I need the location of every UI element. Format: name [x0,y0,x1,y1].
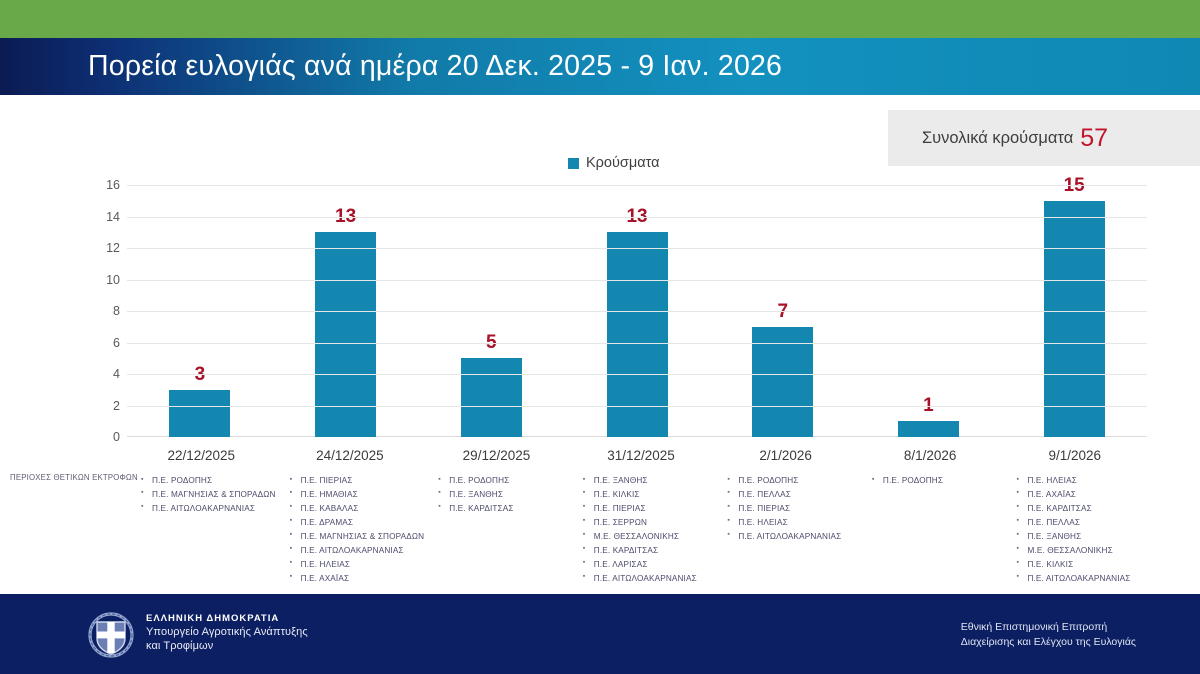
category-column: 24/12/2025Π.Ε. ΠΙΕΡΙΑΣΠ.Ε. ΗΜΑΘΙΑΣΠ.Ε. Κ… [276,448,425,588]
y-axis-tick: 2 [113,399,120,413]
category-column: 2/1/2026Π.Ε. ΡΟΔΟΠΗΣΠ.Ε. ΠΕΛΛΑΣΠ.Ε. ΠΙΕΡ… [713,448,858,588]
region-list-item: Π.Ε. ΚΑΡΔΙΤΣΑΣ [594,544,714,558]
bar[interactable]: 3 [169,390,230,437]
y-axis-tick: 0 [113,430,120,444]
region-list-item: Π.Ε. ΞΑΝΘΗΣ [1027,530,1147,544]
region-list-item: Π.Ε. ΑΙΤΩΛΟΑΚΑΡΝΑΝΙΑΣ [594,572,714,586]
category-columns: 22/12/2025Π.Ε. ΡΟΔΟΠΗΣΠ.Ε. ΜΑΓΝΗΣΙΑΣ & Σ… [127,448,1147,588]
greek-coat-of-arms-icon [86,610,136,660]
region-list: Π.Ε. ΡΟΔΟΠΗΣΠ.Ε. ΜΑΓΝΗΣΙΑΣ & ΣΠΟΡΑΔΩΝΠ.Ε… [127,474,276,516]
region-list-item: Π.Ε. ΡΟΔΟΠΗΣ [152,474,276,488]
region-list-item: Π.Ε. ΠΕΛΛΑΣ [1027,516,1147,530]
region-list-item: Π.Ε. ΗΛΕΙΑΣ [738,516,858,530]
gridline [127,248,1147,249]
region-list-item: Π.Ε. ΞΑΝΘΗΣ [594,474,714,488]
bar[interactable]: 1 [898,421,959,437]
x-axis-date-label: 9/1/2026 [1002,448,1147,463]
region-list-item: Π.Ε. ΑΧΑΪΑΣ [1027,488,1147,502]
y-axis-tick: 12 [106,241,120,255]
region-list: Π.Ε. ΗΛΕΙΑΣΠ.Ε. ΑΧΑΪΑΣΠ.Ε. ΚΑΡΔΙΤΣΑΣΠ.Ε.… [1002,474,1147,586]
x-axis-date-label: 2/1/2026 [713,448,858,463]
ministry-line-1: ΕΛΛΗΝΙΚΗ ΔΗΜΟΚΡΑΤΙΑ [146,613,308,624]
gridline [127,185,1147,186]
category-column: 8/1/2026Π.Ε. ΡΟΔΟΠΗΣ [858,448,1003,588]
region-list-item: Π.Ε. ΔΡΑΜΑΣ [301,516,425,530]
region-list-item: Π.Ε. ΚΙΛΚΙΣ [594,488,714,502]
total-cases-value: 57 [1080,126,1108,151]
gridline [127,280,1147,281]
ministry-text: ΕΛΛΗΝΙΚΗ ΔΗΜΟΚΡΑΤΙΑ Υπουργείο Αγροτικής … [146,613,308,652]
region-list-item: Μ.Ε. ΘΕΣΣΑΛΟΝΙΚΗΣ [594,530,714,544]
y-axis-tick: 16 [106,178,120,192]
legend-label: Κρούσματα [586,155,660,171]
region-list: Π.Ε. ΡΟΔΟΠΗΣΠ.Ε. ΞΑΝΘΗΣΠ.Ε. ΚΑΡΔΙΤΣΑΣ [424,474,569,516]
x-axis-date-label: 31/12/2025 [569,448,714,463]
header-title-bar: Πορεία ευλογιάς ανά ημέρα 20 Δεκ. 2025 -… [0,38,1200,95]
x-axis-date-label: 22/12/2025 [127,448,276,463]
chart-legend: Κρούσματα [568,155,660,171]
region-list-item: Π.Ε. ΡΟΔΟΠΗΣ [738,474,858,488]
bar[interactable]: 15 [1044,201,1105,437]
region-list-item: Π.Ε. ΗΜΑΘΙΑΣ [301,488,425,502]
region-list-item: Μ.Ε. ΘΕΣΣΑΛΟΝΙΚΗΣ [1027,544,1147,558]
region-list-item: Π.Ε. ΚΑΡΔΙΤΣΑΣ [449,502,569,516]
region-list: Π.Ε. ΡΟΔΟΠΗΣ [858,474,1003,488]
region-list-item: Π.Ε. ΚΙΛΚΙΣ [1027,558,1147,572]
y-axis-tick: 14 [106,210,120,224]
region-list-item: Π.Ε. ΛΑΡΙΣΑΣ [594,558,714,572]
gridline [127,311,1147,312]
region-list: Π.Ε. ΠΙΕΡΙΑΣΠ.Ε. ΗΜΑΘΙΑΣΠ.Ε. ΚΑΒΑΛΑΣΠ.Ε.… [276,474,425,586]
region-list: Π.Ε. ΡΟΔΟΠΗΣΠ.Ε. ΠΕΛΛΑΣΠ.Ε. ΠΙΕΡΙΑΣΠ.Ε. … [713,474,858,544]
total-cases-label: Συνολικά κρούσματα [922,129,1073,148]
region-list: Π.Ε. ΞΑΝΘΗΣΠ.Ε. ΚΙΛΚΙΣΠ.Ε. ΠΙΕΡΙΑΣΠ.Ε. Σ… [569,474,714,586]
region-list-item: Π.Ε. ΜΑΓΝΗΣΙΑΣ & ΣΠΟΡΑΔΩΝ [301,530,425,544]
y-axis-tick: 4 [113,367,120,381]
y-axis-tick: 8 [113,304,120,318]
regions-caption: ΠΕΡΙΟΧΕΣ ΘΕΤΙΚΩΝ ΕΚΤΡΟΦΩΝ [10,473,138,482]
page-title: Πορεία ευλογιάς ανά ημέρα 20 Δεκ. 2025 -… [88,50,782,83]
x-axis-date-label: 8/1/2026 [858,448,1003,463]
region-list-item: Π.Ε. ΑΙΤΩΛΟΑΚΑΡΝΑΝΙΑΣ [301,544,425,558]
region-list-item: Π.Ε. ΡΟΔΟΠΗΣ [449,474,569,488]
y-axis: 1614121086420 [80,185,120,437]
category-column: 9/1/2026Π.Ε. ΗΛΕΙΑΣΠ.Ε. ΑΧΑΪΑΣΠ.Ε. ΚΑΡΔΙ… [1002,448,1147,588]
region-list-item: Π.Ε. ΑΙΤΩΛΟΑΚΑΡΝΑΝΙΑΣ [1027,572,1147,586]
region-list-item: Π.Ε. ΚΑΡΔΙΤΣΑΣ [1027,502,1147,516]
slide-root: Πορεία ευλογιάς ανά ημέρα 20 Δεκ. 2025 -… [0,0,1200,674]
y-axis-tick: 10 [106,273,120,287]
legend-swatch-icon [568,158,579,169]
region-list-item: Π.Ε. ΠΙΕΡΙΑΣ [594,502,714,516]
committee-text: Εθνική Επιστημονική Επιτροπή Διαχείρισης… [961,620,1136,650]
y-axis-tick: 6 [113,336,120,350]
region-list-item: Π.Ε. ΜΑΓΝΗΣΙΑΣ & ΣΠΟΡΑΔΩΝ [152,488,276,502]
region-list-item: Π.Ε. ΠΕΛΛΑΣ [738,488,858,502]
gridline [127,374,1147,375]
total-cases-box: Συνολικά κρούσματα 57 [888,110,1200,166]
region-list-item: Π.Ε. ΗΛΕΙΑΣ [1027,474,1147,488]
category-column: 22/12/2025Π.Ε. ΡΟΔΟΠΗΣΠ.Ε. ΜΑΓΝΗΣΙΑΣ & Σ… [127,448,276,588]
region-list-item: Π.Ε. ΡΟΔΟΠΗΣ [883,474,1003,488]
category-column: 31/12/2025Π.Ε. ΞΑΝΘΗΣΠ.Ε. ΚΙΛΚΙΣΠ.Ε. ΠΙΕ… [569,448,714,588]
region-list-item: Π.Ε. ΑΙΤΩΛΟΑΚΑΡΝΑΝΙΑΣ [738,530,858,544]
region-list-item: Π.Ε. ΑΧΑΪΑΣ [301,572,425,586]
gridline [127,343,1147,344]
category-column: 29/12/2025Π.Ε. ΡΟΔΟΠΗΣΠ.Ε. ΞΑΝΘΗΣΠ.Ε. ΚΑ… [424,448,569,588]
region-list-item: Π.Ε. ΠΙΕΡΙΑΣ [738,502,858,516]
x-axis-date-label: 29/12/2025 [424,448,569,463]
region-list-item: Π.Ε. ΣΕΡΡΩΝ [594,516,714,530]
plot-area: 3135137115 [127,185,1147,437]
x-axis-date-label: 24/12/2025 [276,448,425,463]
bar-chart: 1614121086420 3135137115 [80,185,1150,441]
region-list-item: Π.Ε. ΗΛΕΙΑΣ [301,558,425,572]
region-list-item: Π.Ε. ΠΙΕΡΙΑΣ [301,474,425,488]
gridline [127,217,1147,218]
gridline [127,406,1147,407]
region-list-item: Π.Ε. ΑΙΤΩΛΟΑΚΑΡΝΑΝΙΑΣ [152,502,276,516]
committee-line-1: Εθνική Επιστημονική Επιτροπή [961,620,1136,635]
header-green-bar [0,0,1200,38]
bar[interactable]: 5 [461,358,522,437]
committee-line-2: Διαχείρισης και Ελέγχου της Ευλογιάς [961,635,1136,650]
ministry-line-3: και Τροφίμων [146,640,308,652]
region-list-item: Π.Ε. ΚΑΒΑΛΑΣ [301,502,425,516]
region-list-item: Π.Ε. ΞΑΝΘΗΣ [449,488,569,502]
ministry-line-2: Υπουργείο Αγροτικής Ανάπτυξης [146,626,308,638]
